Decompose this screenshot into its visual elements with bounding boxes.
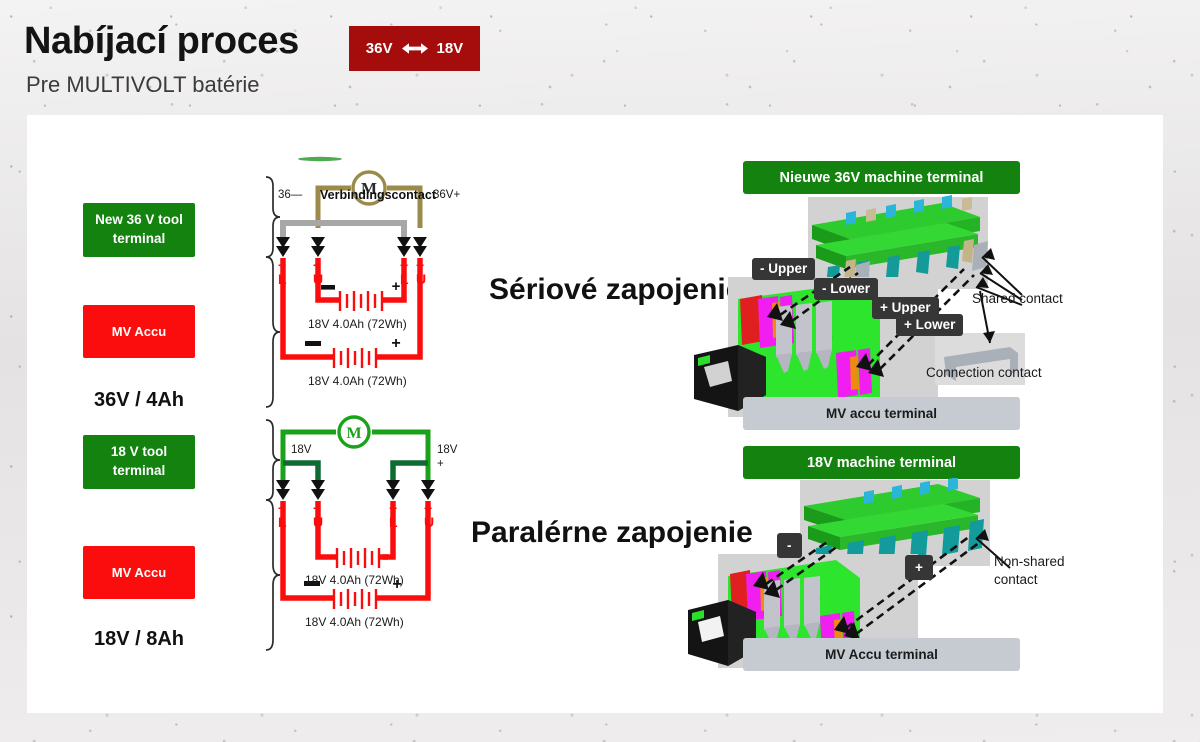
series-tool-terminal-box: New 36 V tool terminal xyxy=(83,203,195,257)
parallel-cell-top-spec: 18V 4.0Ah (72Wh) xyxy=(305,573,404,587)
series-right-terminal-label: 36V+ xyxy=(433,189,460,201)
callout-minus-lower: - Lower xyxy=(814,278,878,300)
series-cell-bottom xyxy=(304,348,391,368)
series-mark-minus-L: −L xyxy=(278,258,287,287)
series-tool-terminal-label: New 36 V tool terminal xyxy=(95,211,183,248)
note-shared-contact: Shared contact xyxy=(972,290,1063,308)
series-left-terminal-label: 36— xyxy=(278,189,302,201)
parallel-right-terminal-label: 18V xyxy=(437,444,457,456)
series-accu-label: MV Accu xyxy=(112,324,166,339)
note-nonshared-contact: Non-shared contact xyxy=(994,553,1065,589)
parallel-mark-minus-U: −U xyxy=(313,501,323,530)
parallel-accu-label: MV Accu xyxy=(112,565,166,580)
parallel-right-terminal-sign: + xyxy=(437,458,444,470)
voltage-mode-badge: 36V 18V xyxy=(349,26,480,71)
badge-left-voltage: 36V xyxy=(366,40,393,57)
parallel-mark-plus-L: +L xyxy=(389,501,398,530)
svg-text:+: + xyxy=(391,335,400,352)
parallel-mark-plus-U: +U xyxy=(424,501,434,530)
series-mark-minus-U: −U xyxy=(313,258,323,287)
series-terminal-arrows xyxy=(276,237,427,257)
series-accu-box: MV Accu xyxy=(83,305,195,358)
page-header: Nabíjací proces Pre MULTIVOLT batérie 36… xyxy=(0,0,1200,115)
callout-plus: + xyxy=(905,555,933,580)
parallel-left-terminal-label: 18V xyxy=(291,444,311,456)
series-mark-plus-L: +L xyxy=(400,258,409,287)
parallel-cell-bottom xyxy=(304,589,391,609)
parallel-tool-terminal-box: 18 V tool terminal xyxy=(83,435,195,489)
parallel-circuit-diagram: M xyxy=(248,410,498,660)
series-cell-bottom-spec: 18V 4.0Ah (72Wh) xyxy=(308,374,407,388)
parallel-spec-label: 18V / 8Ah xyxy=(83,628,195,651)
parallel-terminal-arrows xyxy=(276,480,435,500)
parallel-cell-top xyxy=(328,548,388,568)
parallel-photo-footer: MV Accu terminal xyxy=(743,638,1020,671)
series-photo-footer: MV accu terminal xyxy=(743,397,1020,430)
series-cell-top-spec: 18V 4.0Ah (72Wh) xyxy=(308,317,407,331)
parallel-photo-header: 18V machine terminal xyxy=(743,446,1020,479)
brace-tool-parallel xyxy=(266,420,280,500)
series-connection-label: Verbindingscontact xyxy=(320,188,436,202)
callout-minus: - xyxy=(777,533,802,558)
decor-green-smudge xyxy=(298,157,342,161)
page-title: Nabíjací proces xyxy=(24,20,299,63)
double-arrow-icon xyxy=(402,42,428,55)
series-cell-top xyxy=(328,291,391,311)
badge-right-voltage: 18V xyxy=(437,40,464,57)
parallel-accu-box: MV Accu xyxy=(83,546,195,599)
callout-plus-lower: + Lower xyxy=(896,314,963,336)
series-spec-label: 36V / 4Ah xyxy=(83,389,195,412)
page-subtitle: Pre MULTIVOLT batérie xyxy=(26,72,260,98)
callout-minus-upper: - Upper xyxy=(752,258,815,280)
series-circuit-diagram: M + xyxy=(248,145,498,420)
parallel-motor-symbol: M xyxy=(346,425,361,442)
parallel-tool-terminal-label: 18 V tool terminal xyxy=(111,443,167,480)
parallel-cell-bottom-spec: 18V 4.0Ah (72Wh) xyxy=(305,615,404,629)
note-connection-contact: Connection contact xyxy=(926,364,1042,382)
parallel-mark-minus-L: −L xyxy=(278,501,287,530)
series-mark-plus-U: +U xyxy=(416,258,426,287)
series-photo-header: Nieuwe 36V machine terminal xyxy=(743,161,1020,194)
